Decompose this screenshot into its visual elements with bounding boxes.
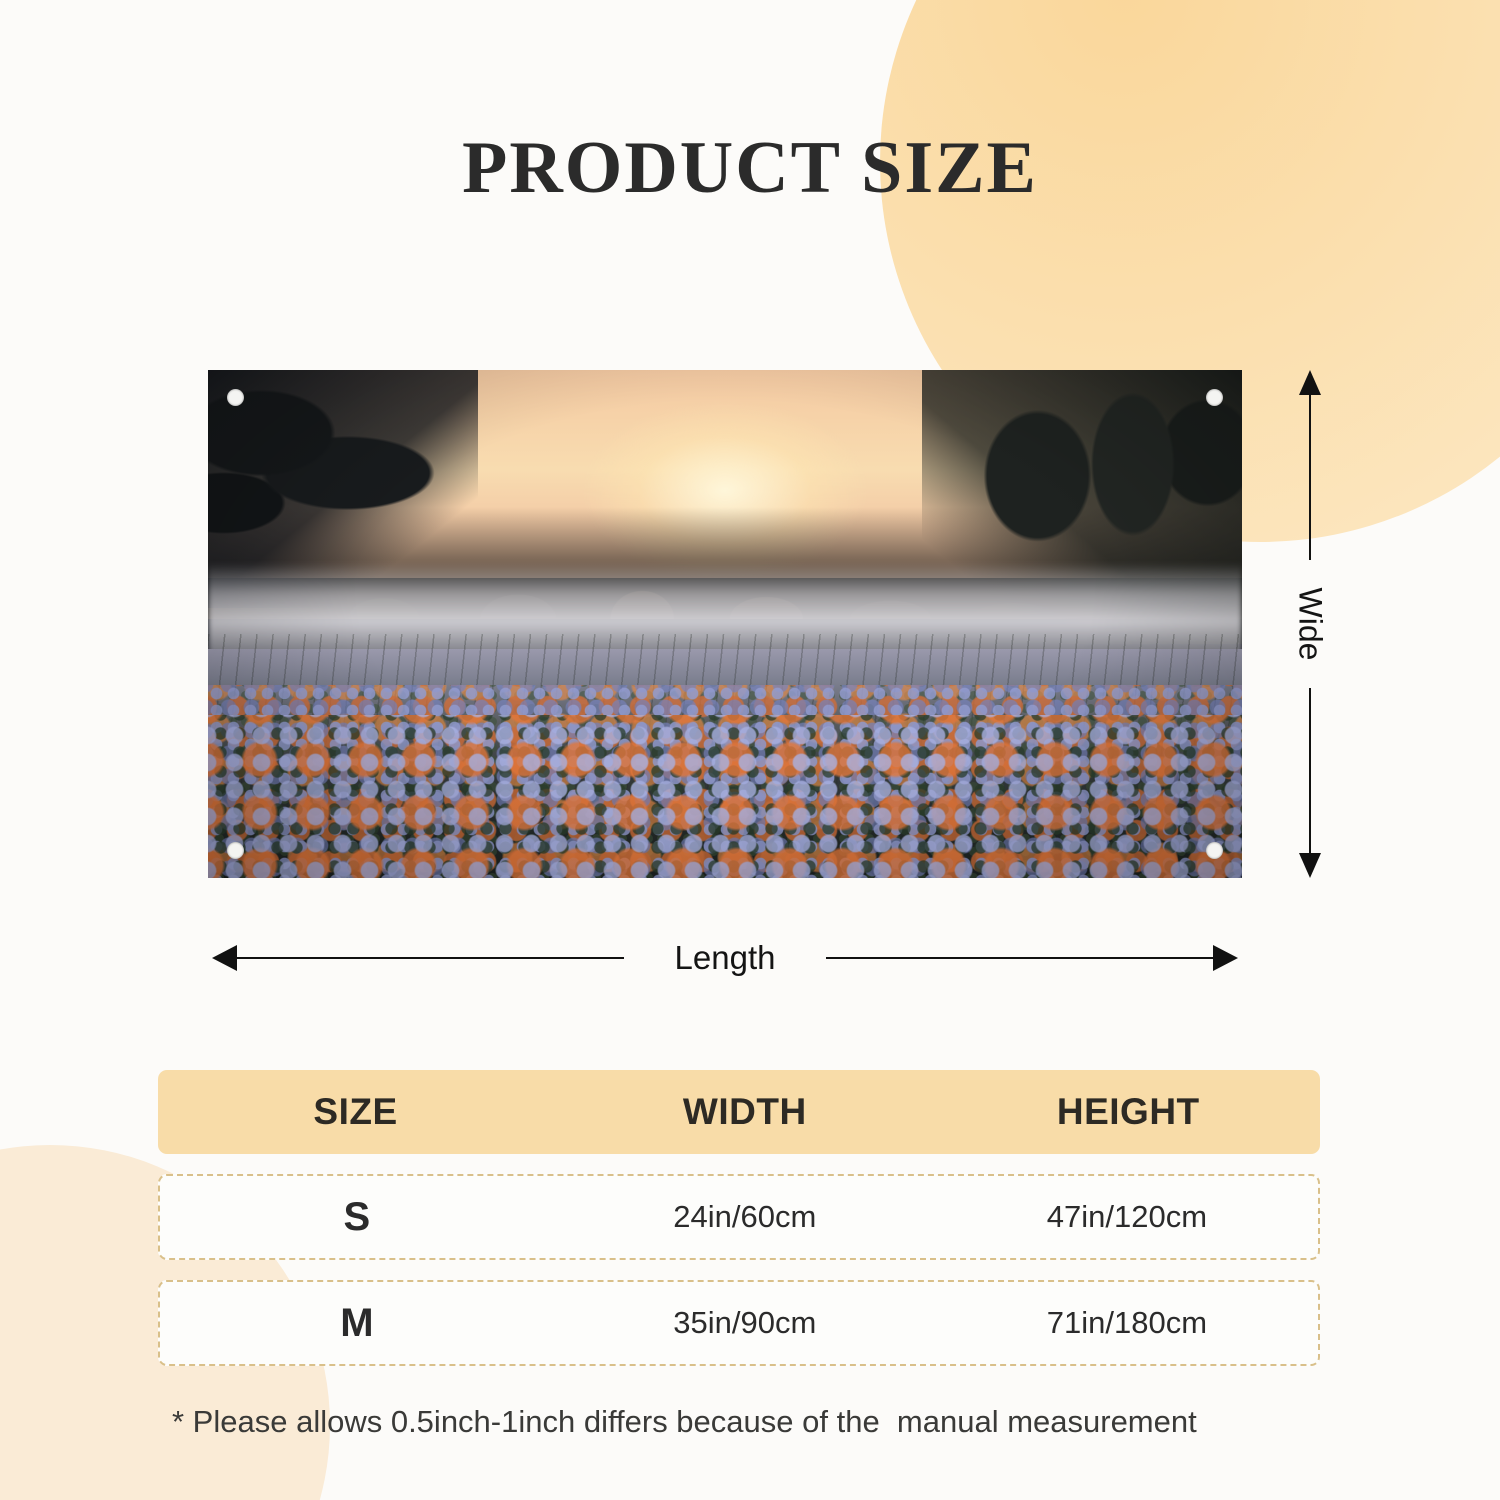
length-dimension-arrow: Length — [212, 935, 1238, 981]
measurement-disclaimer: * Please allows 0.5inch-1inch differs be… — [172, 1404, 1197, 1440]
height-dimension-arrow: Wide — [1297, 370, 1323, 878]
arrow-down-icon — [1299, 853, 1321, 878]
cell-width: 24in/60cm — [554, 1199, 936, 1235]
size-table-header-row: SIZE WIDTH HEIGHT — [158, 1070, 1320, 1154]
cell-height: 47in/120cm — [936, 1199, 1318, 1235]
cell-height: 71in/180cm — [936, 1305, 1318, 1341]
page-title: PRODUCT SIZE — [0, 126, 1500, 211]
cell-size: S — [160, 1195, 554, 1240]
height-dimension-label: Wide — [1292, 588, 1329, 661]
arrow-right-icon — [1213, 945, 1238, 971]
size-table: SIZE WIDTH HEIGHT S 24in/60cm 47in/120cm… — [158, 1070, 1320, 1366]
grommet-top-right — [1206, 389, 1223, 406]
grommet-top-left — [227, 389, 244, 406]
cell-size: M — [160, 1301, 554, 1346]
arrow-line-right — [826, 957, 1216, 959]
grommet-bottom-right — [1206, 842, 1223, 859]
grommet-bottom-left — [227, 842, 244, 859]
product-banner-image — [208, 370, 1242, 878]
banner-vignette — [208, 370, 1242, 878]
length-dimension-label: Length — [663, 939, 788, 977]
arrow-line-top — [1309, 392, 1311, 560]
column-header-size: SIZE — [158, 1091, 553, 1133]
column-header-width: WIDTH — [553, 1091, 936, 1133]
column-header-height: HEIGHT — [937, 1091, 1320, 1133]
cell-width: 35in/90cm — [554, 1305, 936, 1341]
product-size-infographic: PRODUCT SIZE Wide Length SIZE — [0, 0, 1500, 1500]
table-row[interactable]: M 35in/90cm 71in/180cm — [158, 1280, 1320, 1366]
arrow-line-left — [234, 957, 624, 959]
arrow-line-bottom — [1309, 688, 1311, 856]
table-row[interactable]: S 24in/60cm 47in/120cm — [158, 1174, 1320, 1260]
